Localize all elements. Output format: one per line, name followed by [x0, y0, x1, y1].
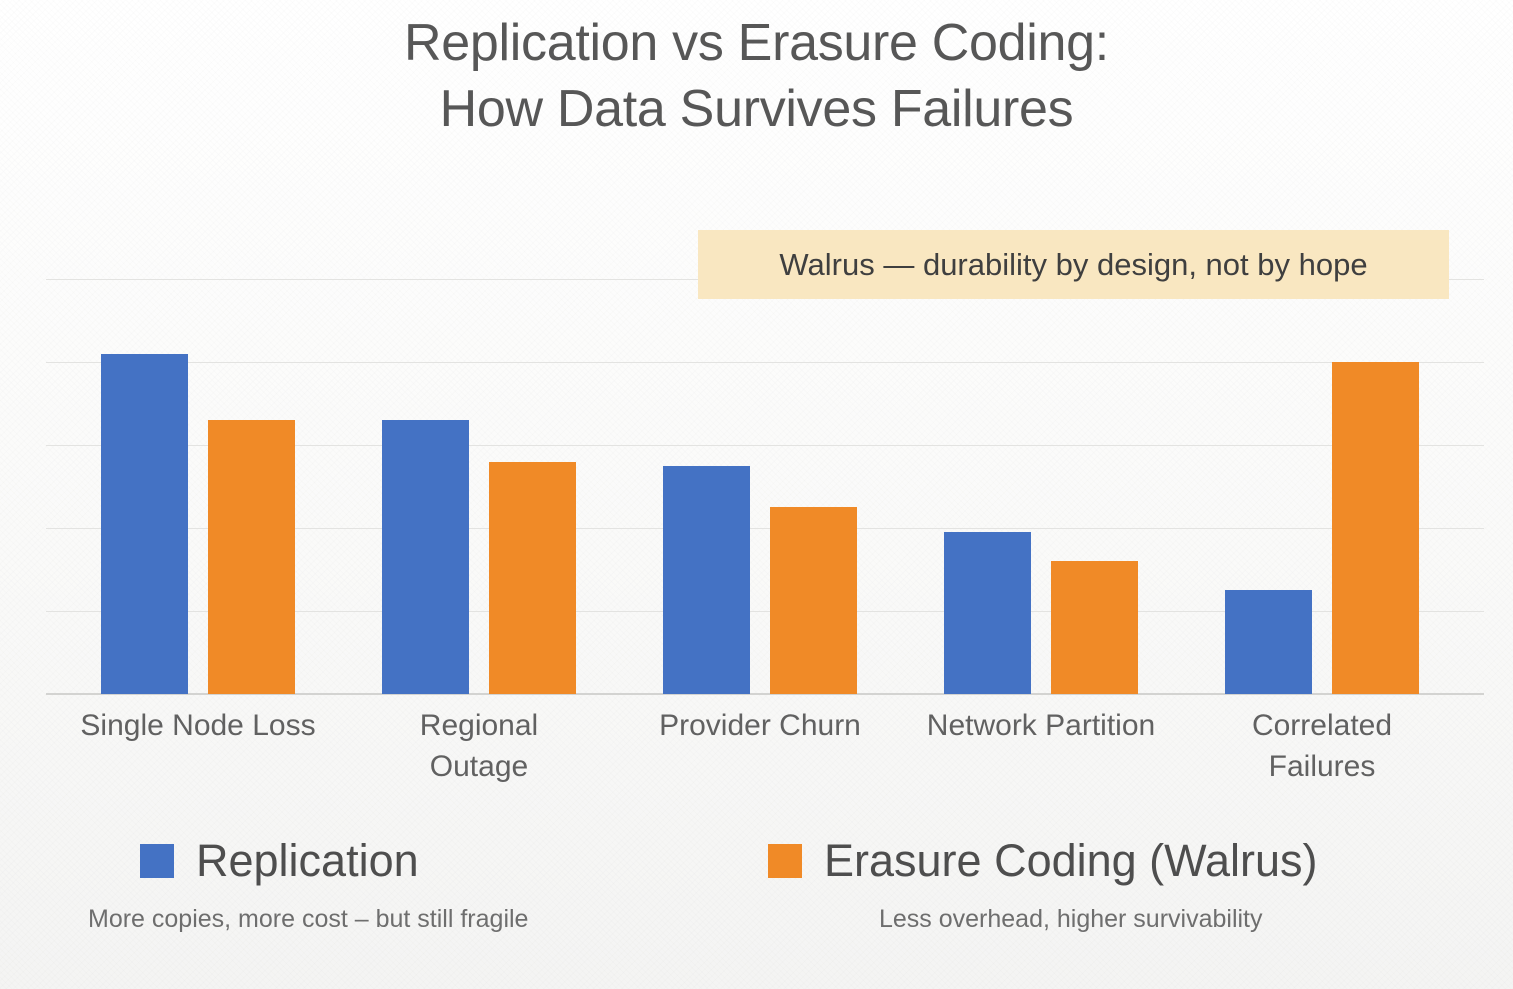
legend-swatch-icon-erasure-coding — [768, 844, 802, 878]
slide-canvas: Replication vs Erasure Coding: How Data … — [0, 0, 1513, 989]
chart-bars — [46, 238, 1484, 694]
legend-sublabel-replication: More copies, more cost – but still fragi… — [88, 905, 528, 934]
chart-legend: Replication More copies, more cost – but… — [0, 838, 1513, 968]
legend-swatch-icon-replication — [140, 844, 174, 878]
category-label-0-line-0: Single Node Loss — [48, 706, 348, 747]
category-label-2: Provider Churn — [610, 706, 910, 747]
annotation-callout-text: Walrus — durability by design, not by ho… — [779, 247, 1367, 283]
category-label-1-line-0: Regional — [329, 706, 629, 747]
bar-erasure-coding-0 — [208, 420, 295, 694]
category-label-4-line-0: Correlated — [1172, 706, 1472, 747]
category-label-3: Network Partition — [891, 706, 1191, 747]
category-label-1-line-1: Outage — [329, 747, 629, 788]
bar-erasure-coding-4 — [1332, 362, 1419, 694]
category-label-4: CorrelatedFailures — [1172, 706, 1472, 787]
legend-row-replication: Replication — [140, 838, 528, 883]
category-label-3-line-0: Network Partition — [891, 706, 1191, 747]
category-label-4-line-1: Failures — [1172, 747, 1472, 788]
annotation-callout: Walrus — durability by design, not by ho… — [698, 230, 1449, 299]
title-line-1: Replication vs Erasure Coding: — [0, 14, 1513, 74]
category-label-2-line-0: Provider Churn — [610, 706, 910, 747]
title-line-2: How Data Survives Failures — [0, 80, 1513, 140]
chart-category-labels: Single Node LossRegionalOutageProvider C… — [46, 706, 1484, 806]
legend-row-erasure-coding: Erasure Coding (Walrus) — [768, 838, 1317, 883]
bar-erasure-coding-3 — [1051, 561, 1138, 694]
page-title: Replication vs Erasure Coding: How Data … — [0, 14, 1513, 140]
bar-replication-1 — [382, 420, 469, 694]
bar-replication-4 — [1225, 590, 1312, 694]
legend-item-replication[interactable]: Replication More copies, more cost – but… — [140, 838, 528, 934]
legend-label-erasure-coding: Erasure Coding (Walrus) — [824, 838, 1317, 883]
bar-replication-2 — [663, 466, 750, 694]
bar-replication-3 — [944, 532, 1031, 694]
chart-plot-area — [46, 238, 1484, 694]
legend-label-replication: Replication — [196, 838, 419, 883]
category-label-0: Single Node Loss — [48, 706, 348, 747]
category-label-1: RegionalOutage — [329, 706, 629, 787]
legend-item-erasure-coding[interactable]: Erasure Coding (Walrus) Less overhead, h… — [768, 838, 1317, 934]
bar-erasure-coding-2 — [770, 507, 857, 694]
legend-sublabel-erasure-coding: Less overhead, higher survivability — [824, 905, 1317, 934]
bar-erasure-coding-1 — [489, 462, 576, 694]
bar-replication-0 — [101, 354, 188, 694]
